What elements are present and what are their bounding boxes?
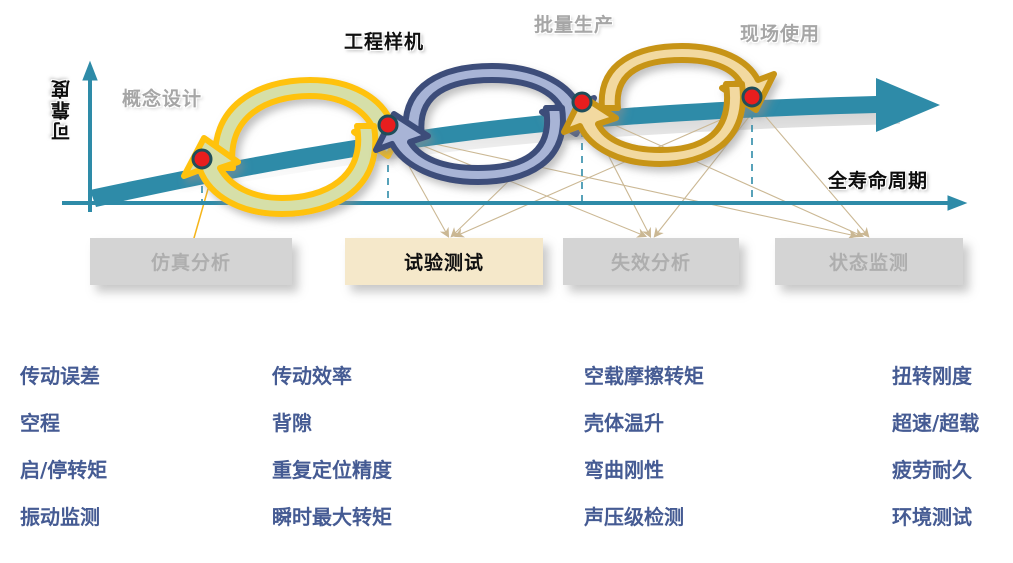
list-item: 疲劳耐久 xyxy=(892,446,1013,493)
list-item: 背隙 xyxy=(272,399,502,446)
stage-label-concept-design: 概念设计 xyxy=(122,90,202,109)
list-item: 弯曲刚性 xyxy=(584,446,814,493)
test-item-column-1: 传动误差 空程 启/停转矩 振动监测 xyxy=(20,352,250,540)
list-item: 空载摩擦转矩 xyxy=(584,352,814,399)
list-item: 声压级检测 xyxy=(584,493,814,540)
milestone-marker-field xyxy=(743,88,761,106)
x-axis-title: 全寿命周期 xyxy=(828,166,928,193)
list-item: 扭转刚度 xyxy=(892,352,1013,399)
list-item: 瞬时最大转矩 xyxy=(272,493,502,540)
activity-box-experimental-testing[interactable]: 试验测试 xyxy=(345,238,543,285)
diagram-canvas: 概念设计 工程样机 批量生产 现场使用 可靠度 全寿命周期 仿真分析 试验测试 … xyxy=(0,0,1013,563)
list-item: 传动误差 xyxy=(20,352,250,399)
list-item: 超速/超载 xyxy=(892,399,1013,446)
activity-box-simulation-analysis[interactable]: 仿真分析 xyxy=(90,238,292,285)
test-item-column-2: 传动效率 背隙 重复定位精度 瞬时最大转矩 xyxy=(272,352,502,540)
milestone-marker-concept xyxy=(193,150,211,168)
stage-label-field-use: 现场使用 xyxy=(740,25,820,44)
test-item-column-4: 扭转刚度 超速/超载 疲劳耐久 环境测试 xyxy=(892,352,1013,540)
test-item-column-3: 空载摩擦转矩 壳体温升 弯曲刚性 声压级检测 xyxy=(584,352,814,540)
list-item: 传动效率 xyxy=(272,352,502,399)
list-item: 振动监测 xyxy=(20,493,250,540)
milestone-marker-production xyxy=(573,93,591,111)
activity-box-failure-analysis[interactable]: 失效分析 xyxy=(563,238,739,285)
stage-label-mass-production: 批量生产 xyxy=(534,16,614,35)
list-item: 空程 xyxy=(20,399,250,446)
list-item: 壳体温升 xyxy=(584,399,814,446)
loop-arrow-production-field xyxy=(564,46,774,164)
list-item: 重复定位精度 xyxy=(272,446,502,493)
milestone-marker-prototype xyxy=(379,116,397,134)
activity-box-condition-monitoring[interactable]: 状态监测 xyxy=(775,238,963,285)
y-axis-title: 可靠度 xyxy=(48,78,75,141)
stage-label-engineering-prototype: 工程样机 xyxy=(344,33,424,52)
list-item: 环境测试 xyxy=(892,493,1013,540)
list-item: 启/停转矩 xyxy=(20,446,250,493)
test-item-grid: 传动误差 空程 启/停转矩 振动监测 传动效率 背隙 重复定位精度 瞬时最大转矩… xyxy=(0,352,1013,563)
